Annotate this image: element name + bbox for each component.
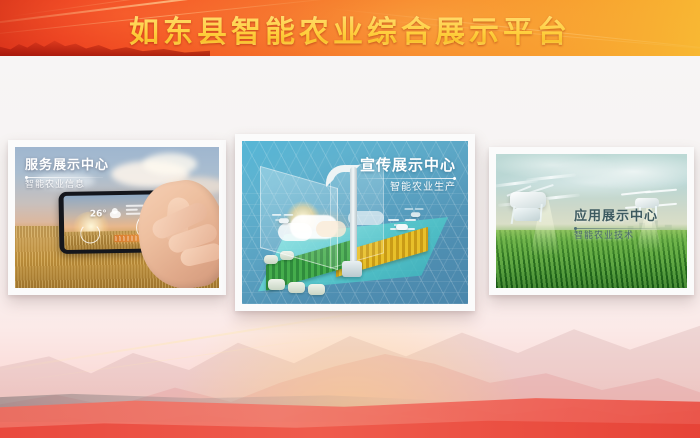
cloud-icon [143, 153, 197, 175]
card-service-center-image: 26° 服务展示中心 智能农业信息 [15, 147, 219, 288]
temperature-readout: 26° [90, 209, 107, 219]
card-title: 应用展示中心 [574, 210, 660, 224]
card-title: 服务展示中心 [25, 159, 109, 173]
divider [574, 228, 660, 229]
card-subtitle: 智能农业信息 [25, 181, 109, 191]
hay-bale [264, 255, 278, 264]
card-application-center[interactable]: 应用展示中心 智能农业技术 [489, 147, 694, 295]
cloud-icon [316, 221, 346, 237]
drone-icon [404, 208, 423, 218]
card-application-center-caption: 应用展示中心 智能农业技术 [574, 210, 660, 242]
page-title: 如东县智能农业综合展示平台 [0, 7, 700, 51]
hud-data-bar [126, 209, 138, 211]
card-subtitle: 智能农业生产 [360, 182, 456, 193]
card-title: 宣传展示中心 [360, 157, 456, 174]
hay-bale [308, 284, 325, 295]
card-service-center-caption: 服务展示中心 智能农业信息 [25, 159, 109, 191]
hud-data-bar [126, 213, 141, 215]
drone-icon [388, 219, 418, 235]
card-application-center-image: 应用展示中心 智能农业技术 [496, 154, 687, 288]
street-lamp-base [342, 261, 362, 277]
card-service-center[interactable]: 26° 服务展示中心 智能农业信息 [8, 140, 226, 295]
card-subtitle: 智能农业技术 [574, 232, 660, 242]
presentation-stage: 如东县智能农业综合展示平台 26° [0, 0, 700, 438]
card-promotion-center-image: 宣传展示中心 智能农业生产 [242, 141, 468, 304]
drone-icon [272, 214, 294, 226]
cloud-icon [110, 211, 121, 218]
divider [25, 177, 103, 178]
card-promotion-center[interactable]: 宣传展示中心 智能农业生产 [235, 134, 475, 311]
hay-bale [288, 282, 305, 293]
drone-icon [496, 170, 584, 228]
divider [360, 178, 456, 179]
hud-data-bar [126, 205, 144, 207]
header-banner: 如东县智能农业综合展示平台 [0, 0, 700, 56]
card-promotion-center-caption: 宣传展示中心 智能农业生产 [360, 157, 456, 193]
street-lamp-pole [350, 167, 357, 267]
hay-bale [268, 279, 285, 290]
